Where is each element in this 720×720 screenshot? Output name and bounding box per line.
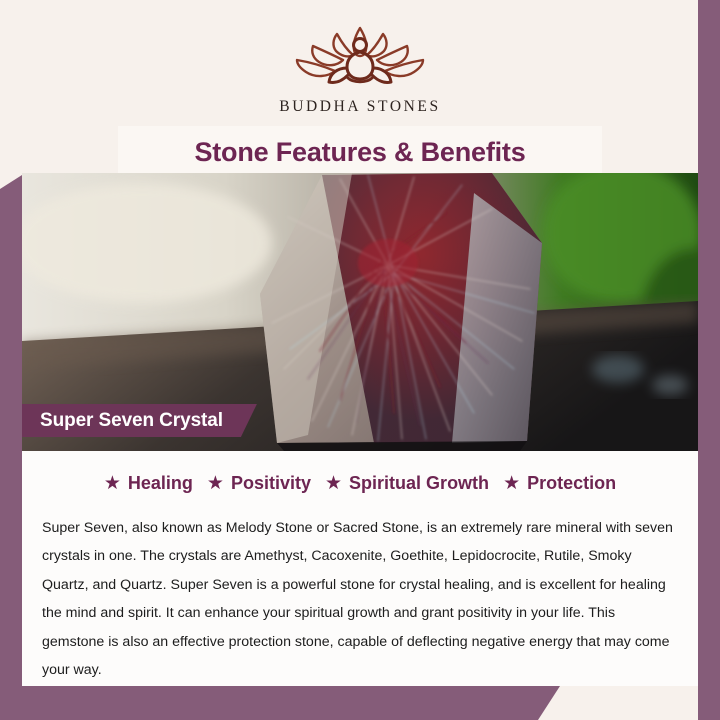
infographic-card: BUDDHA STONES Stone Features & Benefits [0, 0, 720, 720]
benefit-label: Positivity [231, 473, 311, 494]
content-panel: ★ Healing ★ Positivity ★ Spiritual Growt… [22, 451, 698, 686]
page-title-panel: Stone Features & Benefits [118, 126, 602, 178]
benefit-label: Protection [527, 473, 616, 494]
star-icon: ★ [325, 474, 342, 493]
status-badge: Super Seven Crystal [22, 404, 257, 437]
star-icon: ★ [503, 474, 520, 493]
description-text: Super Seven, also known as Melody Stone … [42, 514, 678, 684]
brand-name: BUDDHA STONES [279, 98, 440, 116]
frame-band-right [698, 0, 720, 720]
page-title: Stone Features & Benefits [194, 137, 525, 168]
buddha-lotus-icon [285, 22, 435, 92]
frame-band-left [0, 175, 22, 720]
star-icon: ★ [207, 474, 224, 493]
badge-label: Super Seven Crystal [40, 410, 223, 432]
benefit-label: Spiritual Growth [349, 473, 489, 494]
star-icon: ★ [104, 474, 121, 493]
benefit-item-healing: ★ Healing [104, 473, 193, 494]
benefit-label: Healing [128, 473, 193, 494]
benefit-item-positivity: ★ Positivity [207, 473, 311, 494]
benefit-item-protection: ★ Protection [503, 473, 616, 494]
frame-band-bottom [0, 686, 560, 720]
benefits-list: ★ Healing ★ Positivity ★ Spiritual Growt… [42, 473, 678, 494]
benefit-item-spiritual-growth: ★ Spiritual Growth [325, 473, 489, 494]
